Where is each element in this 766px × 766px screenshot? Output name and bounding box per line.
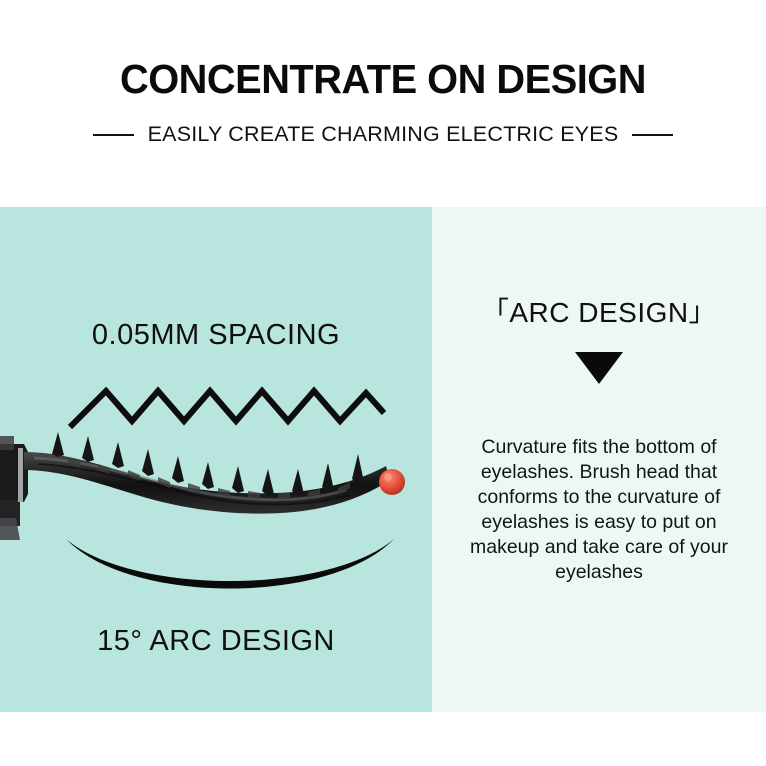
- arc-design-description: Curvature fits the bottom of eyelashes. …: [450, 435, 748, 585]
- decorative-rule-left: [93, 134, 134, 136]
- right-feature-panel: 「ARC DESIGN」 Curvature fits the bottom o…: [432, 207, 766, 712]
- header-banner: CONCENTRATE ON DESIGN EASILY CREATE CHAR…: [0, 0, 766, 207]
- page-subtitle: EASILY CREATE CHARMING ELECTRIC EYES: [148, 122, 619, 147]
- subtitle-row: EASILY CREATE CHARMING ELECTRIC EYES: [0, 122, 766, 147]
- decorative-rule-right: [632, 134, 673, 136]
- feature-panels: 0.05MM SPACING: [0, 207, 766, 712]
- left-feature-panel: 0.05MM SPACING: [0, 207, 432, 712]
- bottom-white-band: [0, 712, 766, 766]
- corner-bracket-open-icon: 「: [482, 297, 510, 328]
- arc-design-heading-text: ARC DESIGN: [509, 297, 688, 328]
- arc-design-heading: 「ARC DESIGN」: [432, 290, 766, 329]
- page-title: CONCENTRATE ON DESIGN: [11, 56, 754, 103]
- arc-design-label: 15° ARC DESIGN: [0, 625, 432, 658]
- arc-curve-icon: [60, 527, 400, 607]
- corner-bracket-close-icon: 」: [689, 297, 717, 328]
- triangle-down-icon: [575, 352, 623, 384]
- spacing-label: 0.05MM SPACING: [0, 319, 432, 352]
